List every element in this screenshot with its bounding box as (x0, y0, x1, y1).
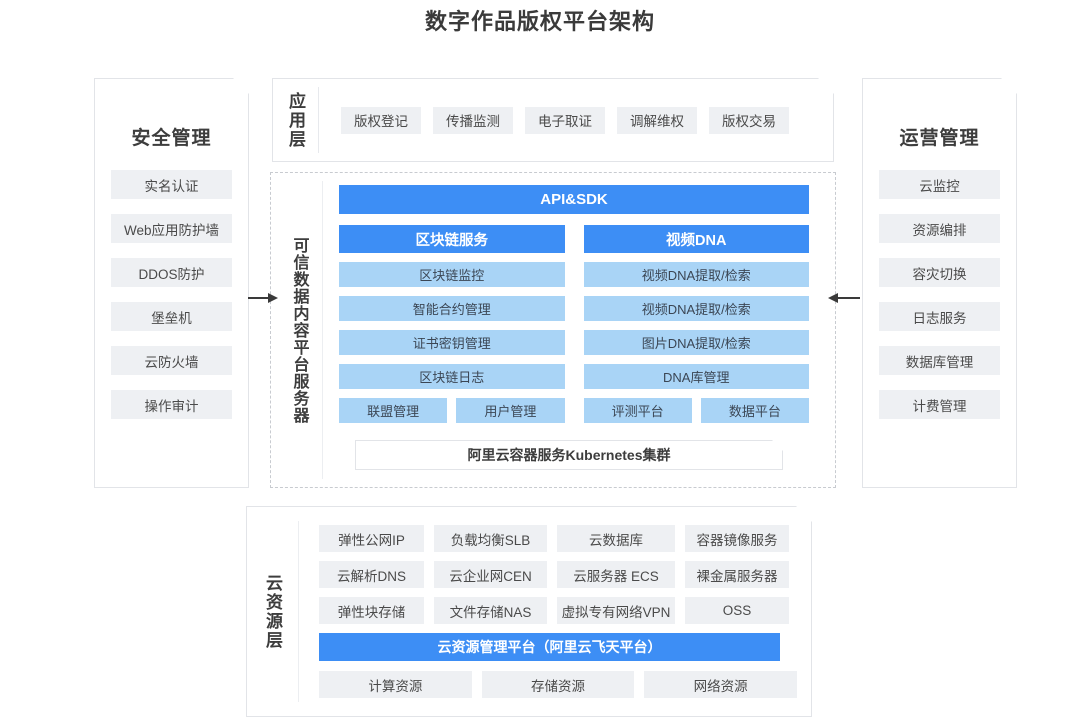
app-item-mediation-rights[interactable]: 调解维权 (617, 107, 697, 134)
cloud-resource-management-bar[interactable]: 云资源管理平台（阿里云飞天平台） (319, 633, 780, 661)
dna-item-video-extract-1[interactable]: 视频DNA提取/检索 (584, 262, 810, 287)
dna-item-library-management[interactable]: DNA库管理 (584, 364, 810, 389)
core-platform-body: API&SDK 区块链服务 区块链监控 智能合约管理 证书密钥管理 区块链日志 … (323, 173, 835, 487)
dna-item-data-platform[interactable]: 数据平台 (701, 398, 809, 423)
operations-item-disaster-recovery[interactable]: 容灾切换 (879, 258, 1000, 287)
cloud-item-block-storage[interactable]: 弹性块存储 (319, 597, 424, 624)
cloud-item-elastic-ip[interactable]: 弹性公网IP (319, 525, 424, 552)
cloud-item-storage-resource[interactable]: 存储资源 (482, 671, 635, 698)
arrow-shaft (248, 297, 270, 299)
cloud-item-slb[interactable]: 负载均衡SLB (434, 525, 547, 552)
cloud-item-cen[interactable]: 云企业网CEN (434, 561, 547, 588)
cloud-item-ecs[interactable]: 云服务器 ECS (557, 561, 675, 588)
arrow-shaft (838, 297, 860, 299)
security-item-ddos[interactable]: DDOS防护 (111, 258, 232, 287)
cloud-item-dns[interactable]: 云解析DNS (319, 561, 424, 588)
application-layer-items: 版权登记 传播监测 电子取证 调解维权 版权交易 (319, 79, 833, 161)
application-layer-label: 应用层 (273, 87, 319, 153)
video-dna-column: 视频DNA 视频DNA提取/检索 视频DNA提取/检索 图片DNA提取/检索 D… (584, 225, 810, 423)
dna-item-evaluation-platform[interactable]: 评测平台 (584, 398, 692, 423)
blockchain-service-header[interactable]: 区块链服务 (339, 225, 565, 253)
security-item-cloud-firewall[interactable]: 云防火墙 (111, 346, 232, 375)
cloud-item-nas[interactable]: 文件存储NAS (434, 597, 547, 624)
cloud-resource-layer-panel: 云资源层 弹性公网IP 负载均衡SLB 云数据库 容器镜像服务 云解析DNS 云… (246, 506, 812, 717)
cloud-item-container-registry[interactable]: 容器镜像服务 (685, 525, 789, 552)
cloud-item-vpn[interactable]: 虚拟专有网络VPN (557, 597, 675, 624)
security-panel-title: 安全管理 (95, 123, 248, 150)
dna-pair-row: 评测平台 数据平台 (584, 398, 810, 423)
cloud-bottom-row: 计算资源 存储资源 网络资源 (319, 671, 797, 698)
security-item-bastion[interactable]: 堡垒机 (111, 302, 232, 331)
blockchain-item-log[interactable]: 区块链日志 (339, 364, 565, 389)
arrow-head (828, 293, 838, 303)
cloud-item-compute-resource[interactable]: 计算资源 (319, 671, 472, 698)
app-item-dissemination-monitoring[interactable]: 传播监测 (433, 107, 513, 134)
video-dna-header[interactable]: 视频DNA (584, 225, 810, 253)
kubernetes-cluster-bar[interactable]: 阿里云容器服务Kubernetes集群 (355, 440, 783, 470)
api-sdk-bar[interactable]: API&SDK (339, 185, 809, 214)
cloud-item-bare-metal[interactable]: 裸金属服务器 (685, 561, 789, 588)
security-management-panel: 安全管理 实名认证 Web应用防护墙 DDOS防护 堡垒机 云防火墙 操作审计 (94, 78, 249, 488)
arrow-left-icon (828, 292, 860, 304)
blockchain-item-user-management[interactable]: 用户管理 (456, 398, 564, 423)
security-item-waf[interactable]: Web应用防护墙 (111, 214, 232, 243)
cloud-row-2: 云解析DNS 云企业网CEN 云服务器 ECS 裸金属服务器 (319, 561, 797, 588)
operations-management-panel: 运营管理 云监控 资源编排 容灾切换 日志服务 数据库管理 计费管理 (862, 78, 1017, 488)
operations-item-cloud-monitor[interactable]: 云监控 (879, 170, 1000, 199)
cloud-layer-body: 弹性公网IP 负载均衡SLB 云数据库 容器镜像服务 云解析DNS 云企业网CE… (299, 507, 811, 716)
operations-item-billing-management[interactable]: 计费管理 (879, 390, 1000, 419)
blockchain-item-cert-key[interactable]: 证书密钥管理 (339, 330, 565, 355)
cloud-row-3: 弹性块存储 文件存储NAS 虚拟专有网络VPN OSS (319, 597, 797, 624)
blockchain-item-alliance-management[interactable]: 联盟管理 (339, 398, 447, 423)
operations-panel-title: 运营管理 (863, 123, 1016, 150)
blockchain-item-monitoring[interactable]: 区块链监控 (339, 262, 565, 287)
cloud-row-1: 弹性公网IP 负载均衡SLB 云数据库 容器镜像服务 (319, 525, 797, 552)
operations-item-database-management[interactable]: 数据库管理 (879, 346, 1000, 375)
app-item-electronic-evidence[interactable]: 电子取证 (525, 107, 605, 134)
operations-item-log-service[interactable]: 日志服务 (879, 302, 1000, 331)
application-layer-panel: 应用层 版权登记 传播监测 电子取证 调解维权 版权交易 (272, 78, 834, 162)
arrow-right-icon (248, 292, 278, 304)
architecture-diagram: 数字作品版权平台架构 安全管理 实名认证 Web应用防护墙 DDOS防护 堡垒机… (0, 0, 1080, 724)
page-title: 数字作品版权平台架构 (0, 4, 1080, 36)
dna-item-image-extract[interactable]: 图片DNA提取/检索 (584, 330, 810, 355)
cloud-item-cloud-database[interactable]: 云数据库 (557, 525, 675, 552)
blockchain-pair-row: 联盟管理 用户管理 (339, 398, 565, 423)
cloud-item-network-resource[interactable]: 网络资源 (644, 671, 797, 698)
cloud-layer-label: 云资源层 (247, 521, 299, 702)
security-item-realname[interactable]: 实名认证 (111, 170, 232, 199)
blockchain-item-smart-contract[interactable]: 智能合约管理 (339, 296, 565, 321)
operations-item-resource-orchestration[interactable]: 资源编排 (879, 214, 1000, 243)
security-item-operation-audit[interactable]: 操作审计 (111, 390, 232, 419)
app-item-copyright-trading[interactable]: 版权交易 (709, 107, 789, 134)
cloud-item-oss[interactable]: OSS (685, 597, 789, 624)
blockchain-service-column: 区块链服务 区块链监控 智能合约管理 证书密钥管理 区块链日志 联盟管理 用户管… (339, 225, 565, 423)
dna-item-video-extract-2[interactable]: 视频DNA提取/检索 (584, 296, 810, 321)
core-platform-label: 可信数据内容平台服务器 (275, 181, 323, 479)
arrow-head (268, 293, 278, 303)
core-platform-container: 可信数据内容平台服务器 API&SDK 区块链服务 区块链监控 智能合约管理 证… (270, 172, 836, 488)
core-columns: 区块链服务 区块链监控 智能合约管理 证书密钥管理 区块链日志 联盟管理 用户管… (339, 225, 809, 423)
app-item-copyright-registration[interactable]: 版权登记 (341, 107, 421, 134)
